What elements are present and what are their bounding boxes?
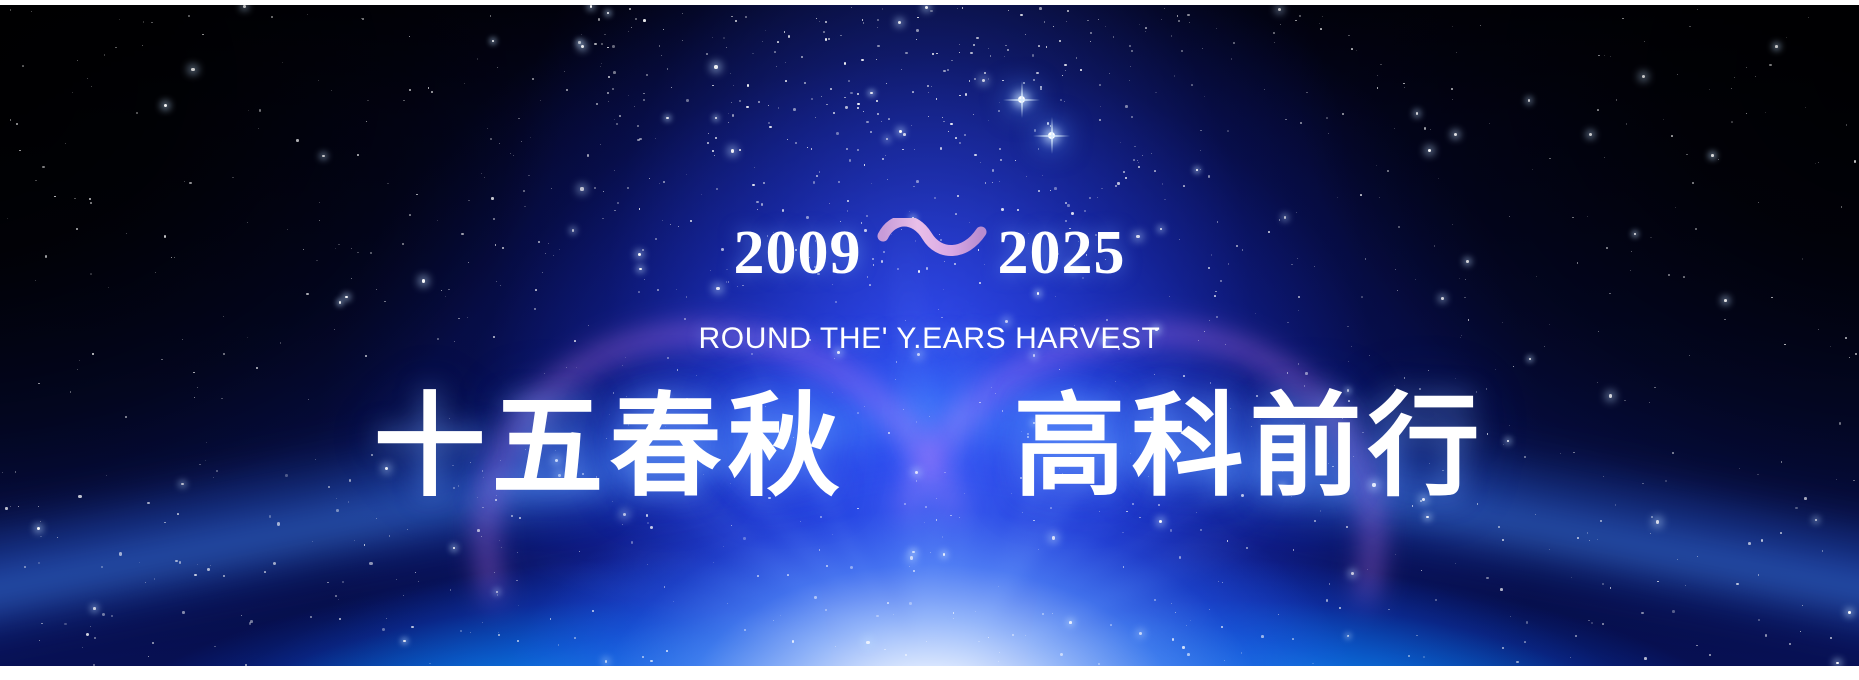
year-range: 2009 2025 [734, 222, 1126, 284]
year-end: 2025 [998, 222, 1126, 284]
slogan-row: 十五春秋 高科前行 [374, 385, 1486, 510]
subtitle-text: ROUND THE' Y.EARS HARVEST [699, 322, 1161, 356]
anniversary-banner: 2009 2025 ROUND THE' Y.EARS HA [0, 0, 1859, 680]
slogan-left: 十五春秋 [374, 385, 846, 510]
wave-tilde-icon [874, 218, 992, 264]
top-trim-strip [0, 0, 1859, 5]
bottom-trim-strip [0, 666, 1859, 680]
slogan-right: 高科前行 [1014, 385, 1486, 510]
year-start: 2009 [734, 222, 862, 284]
banner-content: 2009 2025 ROUND THE' Y.EARS HA [0, 0, 1859, 680]
